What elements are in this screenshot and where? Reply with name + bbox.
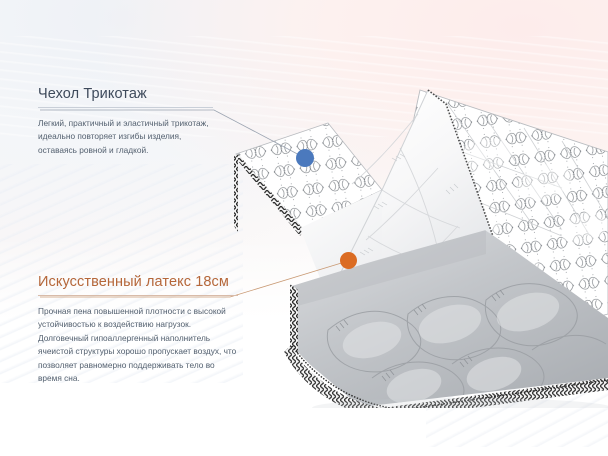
callout-latex-body: Прочная пена повышенной плотности с высо… [38, 305, 238, 386]
blue-marker-dot[interactable] [296, 149, 314, 167]
callout-cover-body: Легкий, практичный и эластичный трикотаж… [38, 117, 213, 157]
callout-cover-title: Чехол Трикотаж [38, 86, 213, 102]
callout-latex-rule [38, 295, 238, 296]
mattress-cutaway-illustration [232, 78, 608, 408]
callout-latex-title: Искусственный латекс 18см [38, 274, 238, 290]
infographic-canvas: Чехол Трикотаж Легкий, практичный и элас… [0, 0, 608, 456]
orange-marker-dot[interactable] [340, 252, 357, 269]
callout-latex: Искусственный латекс 18см Прочная пена п… [38, 274, 238, 386]
callout-cover: Чехол Трикотаж Легкий, практичный и элас… [38, 86, 213, 157]
callout-cover-rule [38, 107, 213, 108]
